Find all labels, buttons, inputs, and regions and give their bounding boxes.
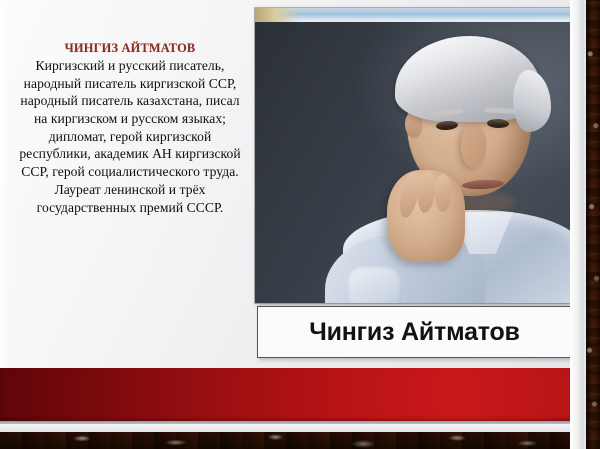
name-caption-box: Чингиз Айтматов (257, 306, 572, 358)
page-title: ЧИНГИЗ АЙТМАТОВ (14, 40, 246, 56)
bottom-brick-texture (0, 432, 586, 449)
portrait-photo (255, 8, 570, 303)
text-column: ЧИНГИЗ АЙТМАТОВ Киргизский и русский пис… (14, 40, 246, 216)
photo-top-sky-strip (255, 8, 570, 22)
right-brick-texture (586, 0, 600, 449)
slide-canvas: ЧИНГИЗ АЙТМАТОВ Киргизский и русский пис… (0, 0, 600, 449)
band-white-strip (0, 424, 586, 432)
portrait-nose (461, 126, 486, 168)
right-white-frame (570, 0, 586, 449)
biography-text: Киргизский и русский писатель, народный … (14, 57, 246, 216)
name-caption-label: Чингиз Айтматов (309, 318, 519, 347)
portrait-cuff (347, 266, 401, 303)
portrait-hair-side (513, 70, 551, 132)
portrait-finger (435, 174, 451, 212)
red-accent-band (0, 368, 586, 421)
photo-backdrop (255, 22, 570, 303)
